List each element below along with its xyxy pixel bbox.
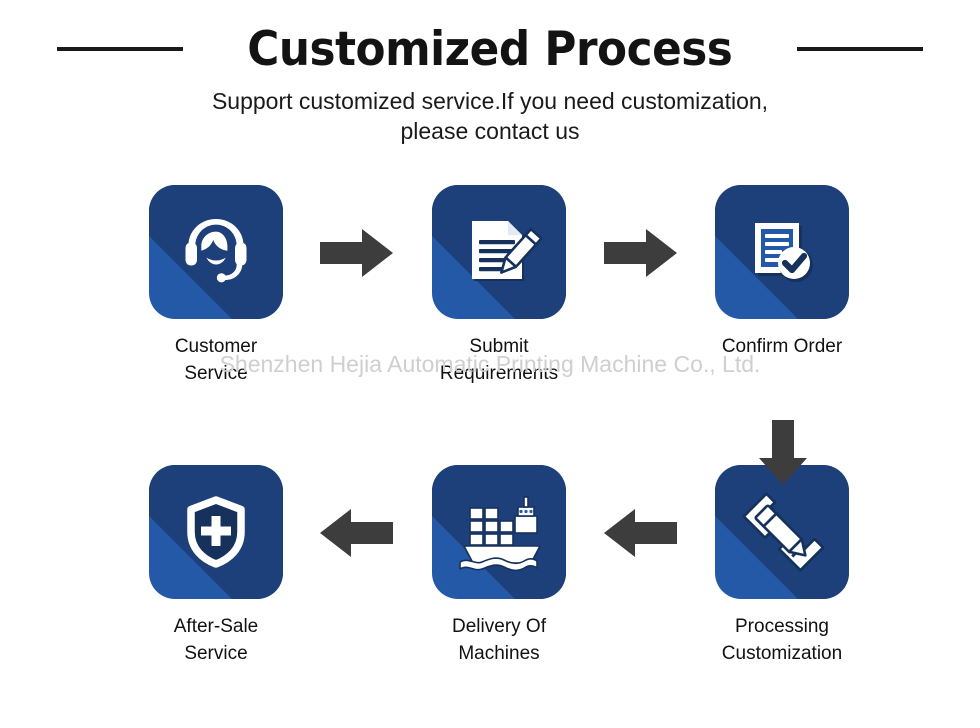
process-step-submit-requirements[interactable]: Submit Requirements — [399, 185, 599, 387]
headset-support-icon — [173, 209, 259, 295]
shield-plus-icon — [173, 489, 259, 575]
step-label-line-1: Confirm Order — [682, 333, 882, 360]
step-label-line-2: Requirements — [399, 360, 599, 387]
page-title: Customized Process — [247, 26, 732, 73]
process-step-confirm-order[interactable]: Confirm Order — [682, 185, 882, 360]
process-step-processing-customization[interactable]: Processing Customization — [682, 465, 882, 667]
document-check-icon — [739, 209, 825, 295]
arrow-left-2 — [320, 507, 394, 559]
arrow-right-2 — [604, 227, 678, 279]
arrow-right-1 — [320, 227, 394, 279]
process-row-top: Customer Service — [0, 185, 980, 415]
title-rule-right — [797, 47, 923, 51]
tile-customer-service[interactable] — [149, 185, 283, 319]
step-label-line-2: Customization — [682, 640, 882, 667]
page-header: Customized Process Support customized se… — [0, 0, 980, 160]
arrow-right-icon — [604, 227, 678, 279]
page-subtitle: Support customized service.If you need c… — [0, 86, 980, 146]
step-label-delivery-of-machines: Delivery Of Machines — [399, 613, 599, 667]
process-step-customer-service[interactable]: Customer Service — [116, 185, 316, 387]
arrow-down-icon — [757, 420, 809, 486]
step-label-submit-requirements: Submit Requirements — [399, 333, 599, 387]
arrow-left-1 — [604, 507, 678, 559]
tile-after-sale-service[interactable] — [149, 465, 283, 599]
process-row-bottom: After-Sale Service — [0, 465, 980, 695]
subtitle-line-2: please contact us — [0, 116, 980, 146]
title-row: Customized Process — [0, 20, 980, 78]
process-step-after-sale-service[interactable]: After-Sale Service — [116, 465, 316, 667]
step-label-customer-service: Customer Service — [116, 333, 316, 387]
tile-delivery-of-machines[interactable] — [432, 465, 566, 599]
step-label-line-2: Service — [116, 360, 316, 387]
arrow-right-icon — [320, 227, 394, 279]
step-label-line-1: Delivery Of — [399, 613, 599, 640]
arrow-left-icon — [320, 507, 394, 559]
subtitle-line-1: Support customized service.If you need c… — [0, 86, 980, 116]
process-flow: Customer Service — [0, 185, 980, 705]
step-label-processing-customization: Processing Customization — [682, 613, 882, 667]
step-label-line-2: Machines — [399, 640, 599, 667]
process-step-delivery-of-machines[interactable]: Delivery Of Machines — [399, 465, 599, 667]
step-label-line-1: Processing — [682, 613, 882, 640]
arrow-left-icon — [604, 507, 678, 559]
tile-submit-requirements[interactable] — [432, 185, 566, 319]
tile-confirm-order[interactable] — [715, 185, 849, 319]
step-label-line-2: Service — [116, 640, 316, 667]
step-label-confirm-order: Confirm Order — [682, 333, 882, 360]
step-label-line-1: Submit — [399, 333, 599, 360]
step-label-line-1: Customer — [116, 333, 316, 360]
arrow-down-1 — [757, 420, 809, 486]
cargo-ship-icon — [454, 489, 544, 575]
pencil-ruler-icon — [739, 489, 825, 575]
step-label-line-1: After-Sale — [116, 613, 316, 640]
title-rule-left — [57, 47, 183, 51]
document-pencil-icon — [456, 209, 542, 295]
step-label-after-sale-service: After-Sale Service — [116, 613, 316, 667]
